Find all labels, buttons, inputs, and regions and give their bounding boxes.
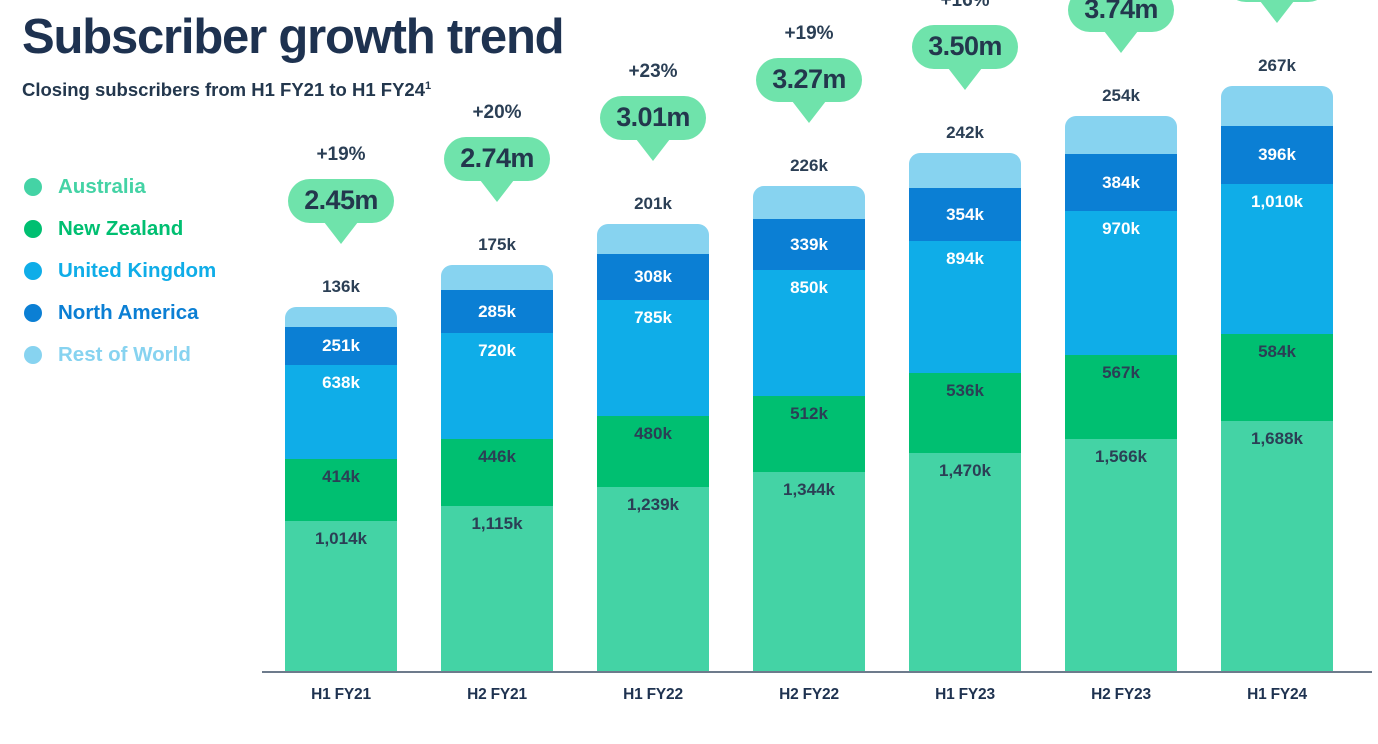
bar-segment-north-america[interactable]: 354k [909, 188, 1021, 240]
bar-segment-value: 512k [790, 405, 828, 422]
total-callout-value: 2.74m [444, 137, 550, 181]
x-axis-label: H2 FY23 [1065, 686, 1177, 704]
bar-segment-australia[interactable]: 1,239k [597, 487, 709, 671]
bar-segment-australia[interactable]: 1,470k [909, 453, 1021, 671]
x-axis-line [262, 671, 1372, 673]
rest-of-world-value-label: 254k [1065, 86, 1177, 106]
bar-segment-value: 384k [1102, 174, 1140, 191]
bar-segment-value: 1,014k [315, 530, 367, 547]
bar-segment-value: 1,566k [1095, 448, 1147, 465]
bar-stack[interactable]: 254k384k970k567k1,566k [1065, 116, 1177, 671]
bar-segment-united-kingdom[interactable]: 785k [597, 300, 709, 416]
bar-segment-north-america[interactable]: 339k [753, 219, 865, 269]
growth-percent-label: +20% [441, 102, 553, 124]
bar-segment-australia[interactable]: 1,688k [1221, 421, 1333, 671]
x-axis-label: H1 FY24 [1221, 686, 1333, 704]
growth-percent-label: +19% [753, 23, 865, 45]
bar-segment-rest-of-world[interactable]: 201k [597, 224, 709, 254]
bar-segment-new-zealand[interactable]: 584k [1221, 334, 1333, 421]
x-axis-label: H2 FY21 [441, 686, 553, 704]
x-axis-label: H2 FY22 [753, 686, 865, 704]
bar-segment-north-america[interactable]: 308k [597, 254, 709, 300]
bar-segment-value: 720k [478, 342, 516, 359]
x-axis-label: H1 FY21 [285, 686, 397, 704]
bar-segment-rest-of-world[interactable]: 254k [1065, 116, 1177, 154]
x-axis-label: H1 FY23 [909, 686, 1021, 704]
bar-segment-value: 1,688k [1251, 430, 1303, 447]
bar-segment-value: 584k [1258, 343, 1296, 360]
bar-segment-rest-of-world[interactable]: 226k [753, 186, 865, 220]
rest-of-world-value-label: 201k [597, 194, 709, 214]
bar-segment-united-kingdom[interactable]: 850k [753, 270, 865, 396]
callout-pointer-icon [792, 101, 826, 123]
bar-segment-united-kingdom[interactable]: 638k [285, 365, 397, 460]
bar-segment-value: 894k [946, 250, 984, 267]
callout-pointer-icon [636, 139, 670, 161]
callout-pointer-icon [480, 180, 514, 202]
bar-segment-united-kingdom[interactable]: 1,010k [1221, 184, 1333, 334]
callout-pointer-icon [1104, 31, 1138, 53]
bar-segment-value: 251k [322, 337, 360, 354]
callout-pointer-icon [948, 68, 982, 90]
bar-segment-value: 850k [790, 279, 828, 296]
bar-segment-value: 339k [790, 236, 828, 253]
total-callout[interactable]: 2.45m [285, 179, 397, 244]
callout-pointer-icon [1260, 1, 1294, 23]
bar-segment-value: 567k [1102, 364, 1140, 381]
bar-segment-rest-of-world[interactable]: 136k [285, 307, 397, 327]
rest-of-world-value-label: 175k [441, 235, 553, 255]
bar-segment-new-zealand[interactable]: 414k [285, 459, 397, 520]
bar-segment-value: 785k [634, 309, 672, 326]
callout-pointer-icon [324, 222, 358, 244]
bar-segment-value: 414k [322, 468, 360, 485]
total-callout-value: 3.74m [1068, 0, 1174, 32]
growth-percent-label: +23% [597, 61, 709, 83]
bar-stack[interactable]: 242k354k894k536k1,470k [909, 153, 1021, 671]
bar-segment-australia[interactable]: 1,344k [753, 472, 865, 671]
bar-segment-value: 480k [634, 425, 672, 442]
bar-segment-united-kingdom[interactable]: 894k [909, 241, 1021, 374]
growth-percent-label: +16% [909, 0, 1021, 12]
bar-segment-australia[interactable]: 1,115k [441, 506, 553, 671]
total-callout[interactable]: 3.01m [597, 96, 709, 161]
total-callout-value: 3.50m [912, 25, 1018, 69]
bar-segment-value: 1,239k [627, 496, 679, 513]
bar-segment-value: 970k [1102, 220, 1140, 237]
bar-segment-value: 308k [634, 268, 672, 285]
bar-segment-united-kingdom[interactable]: 970k [1065, 211, 1177, 355]
bar-segment-value: 396k [1258, 146, 1296, 163]
rest-of-world-value-label: 226k [753, 156, 865, 176]
bar-segment-rest-of-world[interactable]: 175k [441, 265, 553, 291]
rest-of-world-value-label: 136k [285, 277, 397, 297]
bar-stack[interactable]: 136k251k638k414k1,014k [285, 307, 397, 671]
bar-segment-value: 1,115k [471, 515, 522, 532]
rest-of-world-value-label: 267k [1221, 56, 1333, 76]
bar-segment-value: 638k [322, 374, 360, 391]
bar-stack[interactable]: 226k339k850k512k1,344k [753, 186, 865, 671]
bar-segment-new-zealand[interactable]: 446k [441, 439, 553, 505]
bar-segment-value: 1,344k [783, 481, 835, 498]
x-axis-label: H1 FY22 [597, 686, 709, 704]
total-callout-value: 3.27m [756, 58, 862, 102]
bar-stack[interactable]: 201k308k785k480k1,239k [597, 224, 709, 671]
bar-segment-australia[interactable]: 1,566k [1065, 439, 1177, 671]
growth-percent-label: +19% [285, 144, 397, 166]
total-callout[interactable]: 3.27m [753, 58, 865, 123]
total-callout[interactable]: 2.74m [441, 137, 553, 202]
bar-segment-north-america[interactable]: 384k [1065, 154, 1177, 211]
bar-segment-north-america[interactable]: 285k [441, 290, 553, 332]
bar-segment-north-america[interactable]: 251k [285, 327, 397, 364]
rest-of-world-value-label: 242k [909, 123, 1021, 143]
bar-segment-rest-of-world[interactable]: 267k [1221, 86, 1333, 126]
bar-segment-value: 354k [946, 206, 984, 223]
bar-stack[interactable]: 267k396k1,010k584k1,688k [1221, 86, 1333, 671]
bar-segment-new-zealand[interactable]: 480k [597, 416, 709, 487]
bar-segment-value: 446k [478, 448, 516, 465]
bar-segment-value: 1,010k [1251, 193, 1303, 210]
bar-stack[interactable]: 175k285k720k446k1,115k [441, 265, 553, 671]
bar-segment-north-america[interactable]: 396k [1221, 126, 1333, 185]
total-callout-value: 3.01m [600, 96, 706, 140]
total-callout[interactable]: 3.74m [1065, 0, 1177, 53]
bar-segment-value: 536k [946, 382, 984, 399]
bar-segment-new-zealand[interactable]: 536k [909, 373, 1021, 452]
bar-segment-value: 1,470k [939, 462, 991, 479]
total-callout-value: 2.45m [288, 179, 394, 223]
bar-segment-australia[interactable]: 1,014k [285, 521, 397, 671]
bar-segment-rest-of-world[interactable]: 242k [909, 153, 1021, 189]
bar-segment-united-kingdom[interactable]: 720k [441, 333, 553, 440]
total-callout[interactable]: 3.95m [1221, 0, 1333, 23]
bar-segment-value: 285k [478, 303, 516, 320]
bar-segment-new-zealand[interactable]: 512k [753, 396, 865, 472]
bar-segment-new-zealand[interactable]: 567k [1065, 355, 1177, 439]
chart-plot-area: 136k251k638k414k1,014k136k2.45m+19%H1 FY… [0, 0, 1378, 744]
total-callout[interactable]: 3.50m [909, 25, 1021, 90]
